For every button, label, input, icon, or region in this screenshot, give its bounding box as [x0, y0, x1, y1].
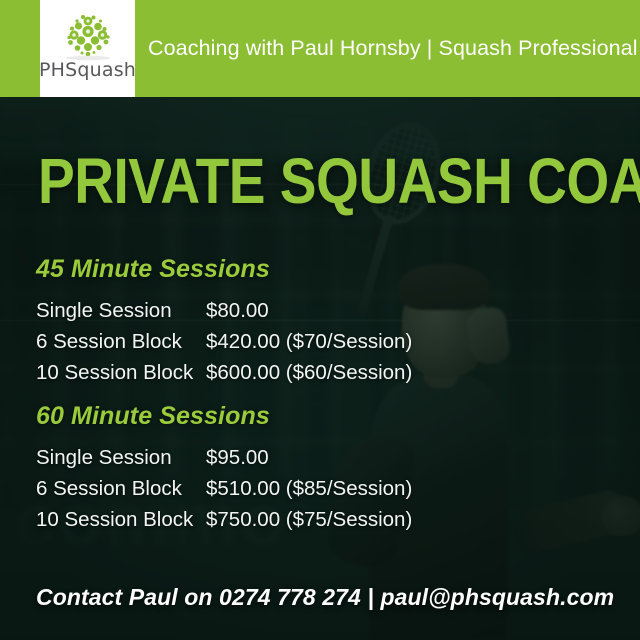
price-row-label: Single Session: [36, 295, 206, 326]
header-bar: PHSquash Coaching with Paul Hornsby | Sq…: [0, 0, 640, 97]
price-row-value: $420.00 ($70/Session): [206, 326, 412, 357]
logo-block[interactable]: PHSquash: [40, 0, 135, 97]
price-row: Single Session $95.00: [36, 442, 412, 473]
price-row-value: $750.00 ($75/Session): [206, 504, 412, 535]
pricing-section-45min: 45 Minute Sessions Single Session $80.00…: [36, 255, 412, 388]
contact-line[interactable]: Contact Paul on 0274 778 274 | paul@phsq…: [36, 584, 614, 611]
price-row-value: $510.00 ($85/Session): [206, 473, 412, 504]
price-row: 6 Session Block $510.00 ($85/Session): [36, 473, 412, 504]
poster-content: PRIVATE SQUASH COACHING 45 Minute Sessio…: [0, 97, 640, 640]
poster-title: PRIVATE SQUASH COACHING: [38, 145, 640, 218]
price-row-value: $600.00 ($60/Session): [206, 357, 412, 388]
price-row-label: 10 Session Block: [36, 357, 206, 388]
header-tagline: Coaching with Paul Hornsby | Squash Prof…: [148, 0, 638, 97]
price-row-value: $80.00: [206, 295, 269, 326]
phsquash-sphere-icon: [59, 9, 117, 61]
price-row-label: 6 Session Block: [36, 473, 206, 504]
price-row-label: 6 Session Block: [36, 326, 206, 357]
price-row: 10 Session Block $750.00 ($75/Session): [36, 504, 412, 535]
section-heading: 45 Minute Sessions: [36, 255, 412, 284]
price-row-value: $95.00: [206, 442, 269, 473]
section-heading: 60 Minute Sessions: [36, 402, 412, 431]
price-row: Single Session $80.00: [36, 295, 412, 326]
price-row: 10 Session Block $600.00 ($60/Session): [36, 357, 412, 388]
phsquash-wordmark: PHSquash: [39, 59, 136, 81]
price-row-label: Single Session: [36, 442, 206, 473]
price-row-label: 10 Session Block: [36, 504, 206, 535]
price-row: 6 Session Block $420.00 ($70/Session): [36, 326, 412, 357]
pricing-section-60min: 60 Minute Sessions Single Session $95.00…: [36, 402, 412, 535]
coaching-price-poster: commo: [0, 0, 640, 640]
